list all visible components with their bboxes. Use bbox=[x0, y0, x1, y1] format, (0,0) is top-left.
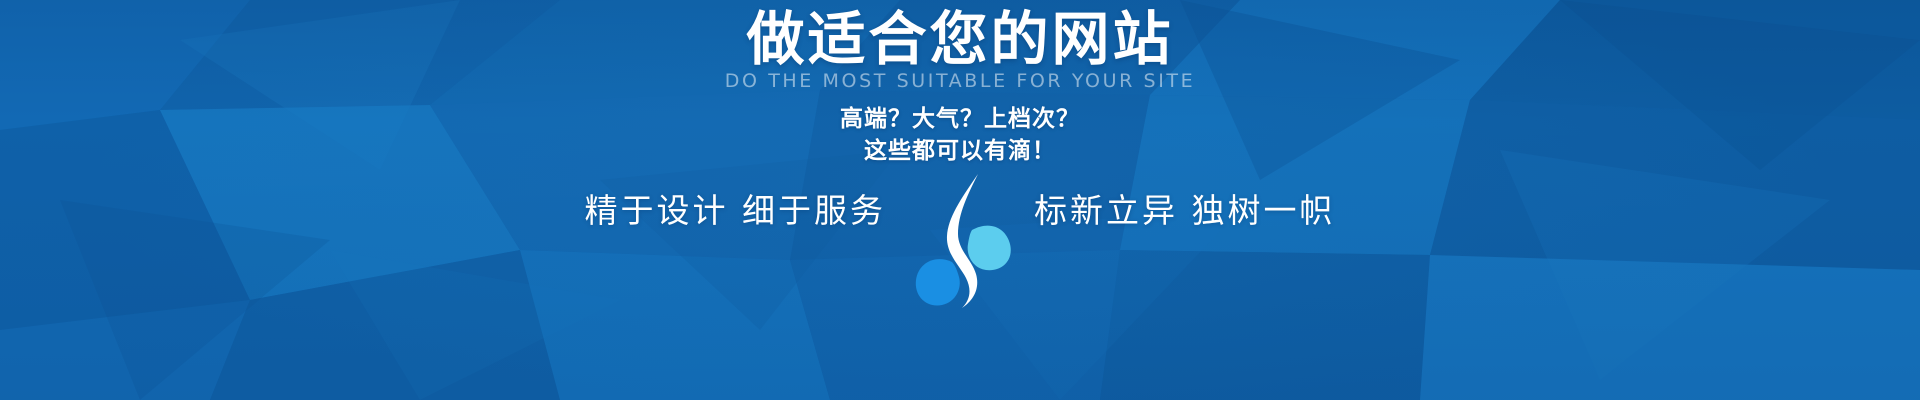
banner-headline: 做适合您的网站 bbox=[0, 8, 1920, 71]
slogan-right: 标新立异 独树一帜 bbox=[1034, 184, 1336, 232]
banner-claim-line-1: 高端？大气？上档次？ bbox=[0, 104, 1920, 136]
banner-claim-line-2: 这些都可以有滴！ bbox=[0, 136, 1920, 168]
hero-banner: 做适合您的网站 DO THE MOST SUITABLE FOR YOUR SI… bbox=[0, 0, 1920, 400]
banner-subline-english: DO THE MOST SUITABLE FOR YOUR SITE bbox=[0, 70, 1920, 92]
banner-claim: 高端？大气？上档次？ 这些都可以有滴！ bbox=[0, 104, 1920, 167]
slogan-left: 精于设计 细于服务 bbox=[585, 184, 887, 232]
slogan-row: 精于设计 细于服务 标新立异 独树一帜 bbox=[0, 178, 1920, 238]
